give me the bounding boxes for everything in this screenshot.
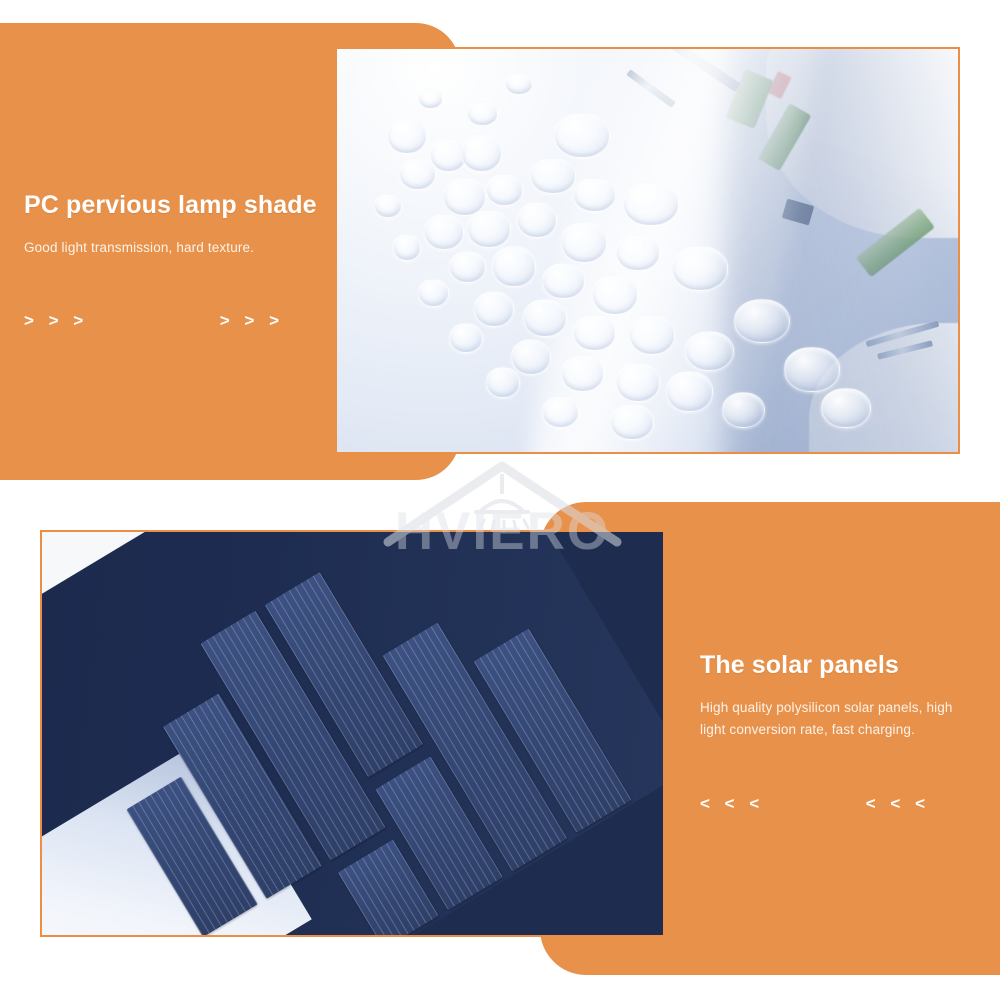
feature-text-solar-panels: The solar panels High quality polysilico… xyxy=(700,650,980,741)
solar-panel-photo-canvas xyxy=(42,532,663,935)
arrow-indicators-top: > > > > > > xyxy=(24,312,284,329)
pc-lamp-shade-photo-canvas xyxy=(337,49,958,452)
arrow-indicators-bottom: < < < < < < xyxy=(700,795,930,812)
feature-subtitle: Good light transmission, hard texture. xyxy=(24,237,354,259)
feature-subtitle: High quality polysilicon solar panels, h… xyxy=(700,697,980,741)
pc-lamp-shade-photo xyxy=(335,47,960,454)
chevron-right-group-right: > > > xyxy=(220,312,284,329)
chevron-left-group-right: < < < xyxy=(866,795,930,812)
chevron-left-group-left: < < < xyxy=(700,795,764,812)
feature-title: PC pervious lamp shade xyxy=(24,190,354,220)
banner-stage: PC pervious lamp shade Good light transm… xyxy=(0,0,1000,1000)
chevron-right-group-left: > > > xyxy=(24,312,88,329)
feature-title: The solar panels xyxy=(700,650,980,680)
solar-panel-photo xyxy=(40,530,665,937)
feature-text-pc-lamp-shade: PC pervious lamp shade Good light transm… xyxy=(24,190,354,259)
